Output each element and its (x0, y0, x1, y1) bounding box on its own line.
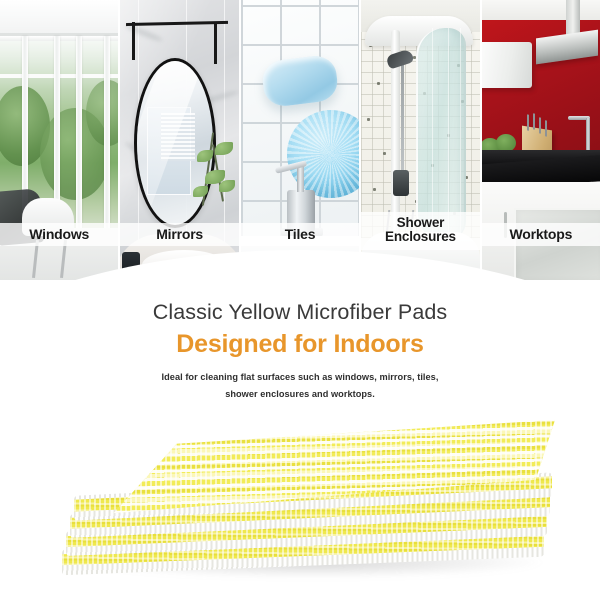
shower-glass-panel-decor (416, 28, 466, 242)
product-headline: Classic Yellow Microfiber Pads (0, 300, 600, 325)
category-label-windows: Windows (0, 223, 118, 246)
product-description: Ideal for cleaning flat surfaces such as… (0, 369, 600, 403)
product-banner: Windows (0, 0, 600, 600)
wall-cabinet-decor (482, 42, 532, 88)
surface-category-strip: Windows (0, 0, 600, 280)
category-label-line-2: Enclosures (362, 230, 478, 245)
product-subhead: Designed for Indoors (0, 330, 600, 359)
description-line-2: shower enclosures and worktops. (0, 386, 600, 403)
leaf-decor (215, 142, 233, 155)
extractor-pipe-decor (566, 0, 580, 36)
category-panel-mirrors[interactable]: Mirrors (120, 0, 238, 280)
ceiling-decor (482, 0, 600, 20)
leaf-decor (197, 150, 213, 162)
category-label-shower-enclosures: Shower Enclosures (361, 212, 479, 250)
category-label-worktops: Worktops (482, 223, 600, 246)
mirror-rod-decor (132, 22, 135, 60)
leaf-decor (219, 180, 235, 192)
shower-valve-decor (393, 170, 409, 196)
category-panel-windows[interactable]: Windows (0, 0, 118, 280)
category-label-mirrors: Mirrors (120, 223, 238, 246)
dispenser-neck-decor (297, 166, 304, 192)
category-label-tiles: Tiles (241, 223, 359, 246)
category-panel-tiles[interactable]: Tiles (241, 0, 359, 280)
category-label-line-1: Shower (362, 216, 478, 231)
ceiling-decor (0, 0, 118, 34)
plant-decor (191, 132, 237, 218)
copy-block: Classic Yellow Microfiber Pads Designed … (0, 300, 600, 403)
leaf-decor (193, 186, 208, 197)
soap-bar-decor (260, 54, 339, 109)
description-line-1: Ideal for cleaning flat surfaces such as… (0, 369, 600, 386)
tap-decor (586, 118, 590, 152)
category-panel-worktops[interactable]: Worktops (482, 0, 600, 280)
mirror-rod-decor (214, 24, 217, 64)
category-panel-shower-enclosures[interactable]: Shower Enclosures (361, 0, 479, 280)
